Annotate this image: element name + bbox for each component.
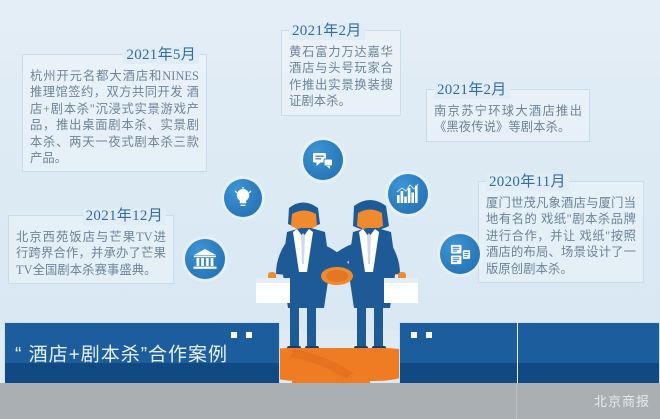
chat-bubble-glyph [311,148,335,172]
banner-title: “ 酒店+剧本杀”合作案例 [15,340,228,367]
panel-dot [426,332,432,338]
card-text: 黄石富力万达嘉华酒店与头号玩家合作推出实景换装搜证剧本杀。 [289,44,393,110]
bank-building-glyph [193,248,217,270]
card-text: 南京苏宁环球大酒店推出《黑夜传说》等剧本杀。 [434,103,582,136]
chat-bubble-icon [303,140,343,180]
card-date: 2020年11月 [486,174,569,191]
lightbulb-icon [224,179,262,217]
panel-dot [231,332,237,338]
documents-glyph [449,243,472,266]
card-date: 2021年12月 [83,208,166,225]
info-card-nanjing: 2021年2月 南京苏宁环球大酒店推出《黑夜传说》等剧本杀。 [426,89,590,142]
footer-divider [516,383,517,419]
panel-lower-band [400,363,659,383]
info-card-xiamen: 2020年11月 厦门世茂凡象酒店与厦门当地有名的 戏纸"剧本杀品牌进行合作，并… [478,181,644,283]
card-text: 厦门世茂凡象酒店与厦门当地有名的 戏纸"剧本杀品牌进行合作，并让 戏纸"按照酒店… [486,195,636,277]
card-text: 杭州开元名都大酒店和NINES推理馆签约，双方共同开发 酒店+剧本杀"沉浸式实景… [30,68,199,166]
bar-chart-glyph [396,183,420,205]
card-date: 2021年2月 [289,23,365,40]
infographic-canvas: 2021年5月 杭州开元名都大酒店和NINES推理馆签约，双方共同开发 酒店+剧… [0,0,660,419]
panel-divider [517,323,518,385]
footer-strip [0,383,660,419]
watermark-label: 北京商报 [594,391,650,410]
card-text: 北京西苑饭店与芒果TV进行跨界合作，并承办了芒果TV全国剧本杀赛事盛典。 [16,229,166,278]
lightbulb-glyph [232,187,254,209]
banner-panel-left: “ 酒店+剧本杀”合作案例 [4,322,280,384]
info-card-hangzhou: 2021年5月 杭州开元名都大酒店和NINES推理馆签约，双方共同开发 酒店+剧… [22,54,207,172]
info-card-huangshi: 2021年2月 黄石富力万达嘉华酒店与头号玩家合作推出实景换装搜证剧本杀。 [281,30,401,116]
bank-building-icon [185,239,225,279]
card-date: 2021年5月 [123,47,199,64]
panel-dot [246,332,252,338]
panel-dot [411,332,417,338]
bar-chart-icon [388,174,428,214]
info-card-beijing: 2021年12月 北京西苑饭店与芒果TV进行跨界合作，并承办了芒果TV全国剧本杀… [8,215,174,284]
documents-icon [440,234,480,274]
card-date: 2021年2月 [434,82,510,99]
banner-panel-right [399,322,660,384]
